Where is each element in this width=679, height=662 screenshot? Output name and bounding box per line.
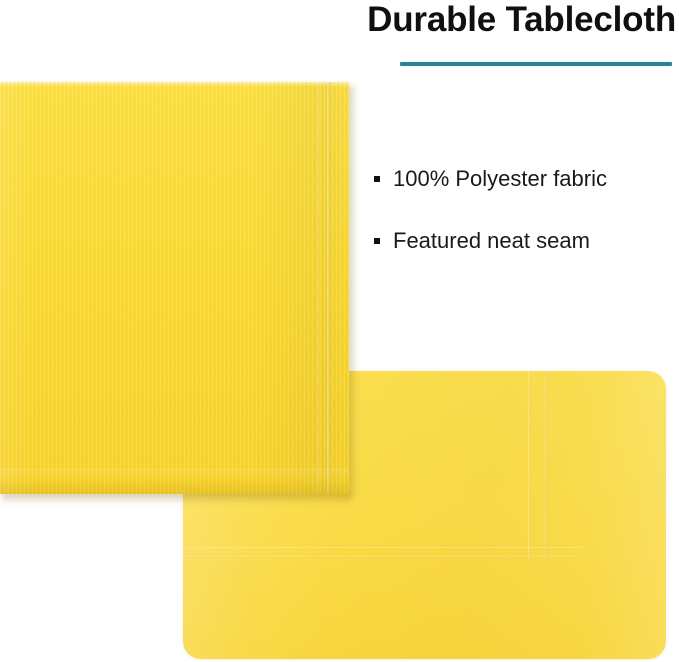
seam-vertical — [545, 371, 547, 559]
upper-panel-shadow-bottom — [2, 492, 351, 506]
seam-vertical-highlight — [528, 371, 529, 559]
folded-right-edge — [327, 82, 330, 494]
seam-horizontal-highlight — [183, 547, 583, 548]
feature-text: 100% Polyester fabric — [393, 166, 607, 192]
fold-shading-right — [583, 371, 666, 659]
seam-horizontal — [183, 556, 583, 558]
product-infographic: Durable Tablecloth 100% Polyester fabric… — [0, 0, 679, 662]
hem-top-edge — [0, 82, 349, 87]
title-divider — [400, 62, 672, 66]
square-bullet-icon — [374, 176, 380, 182]
fold-crease-highlight — [318, 82, 319, 494]
list-item: Featured neat seam — [374, 228, 674, 254]
square-bullet-icon — [374, 238, 380, 244]
twill-sheen — [0, 82, 349, 494]
page-title: Durable Tablecloth — [314, 0, 676, 42]
feature-list: 100% Polyester fabric Featured neat seam — [374, 166, 674, 290]
tablecloth-upper-panel — [0, 82, 349, 494]
hem-bottom-edge — [0, 468, 349, 494]
feature-text: Featured neat seam — [393, 228, 590, 254]
list-item: 100% Polyester fabric — [374, 166, 674, 192]
